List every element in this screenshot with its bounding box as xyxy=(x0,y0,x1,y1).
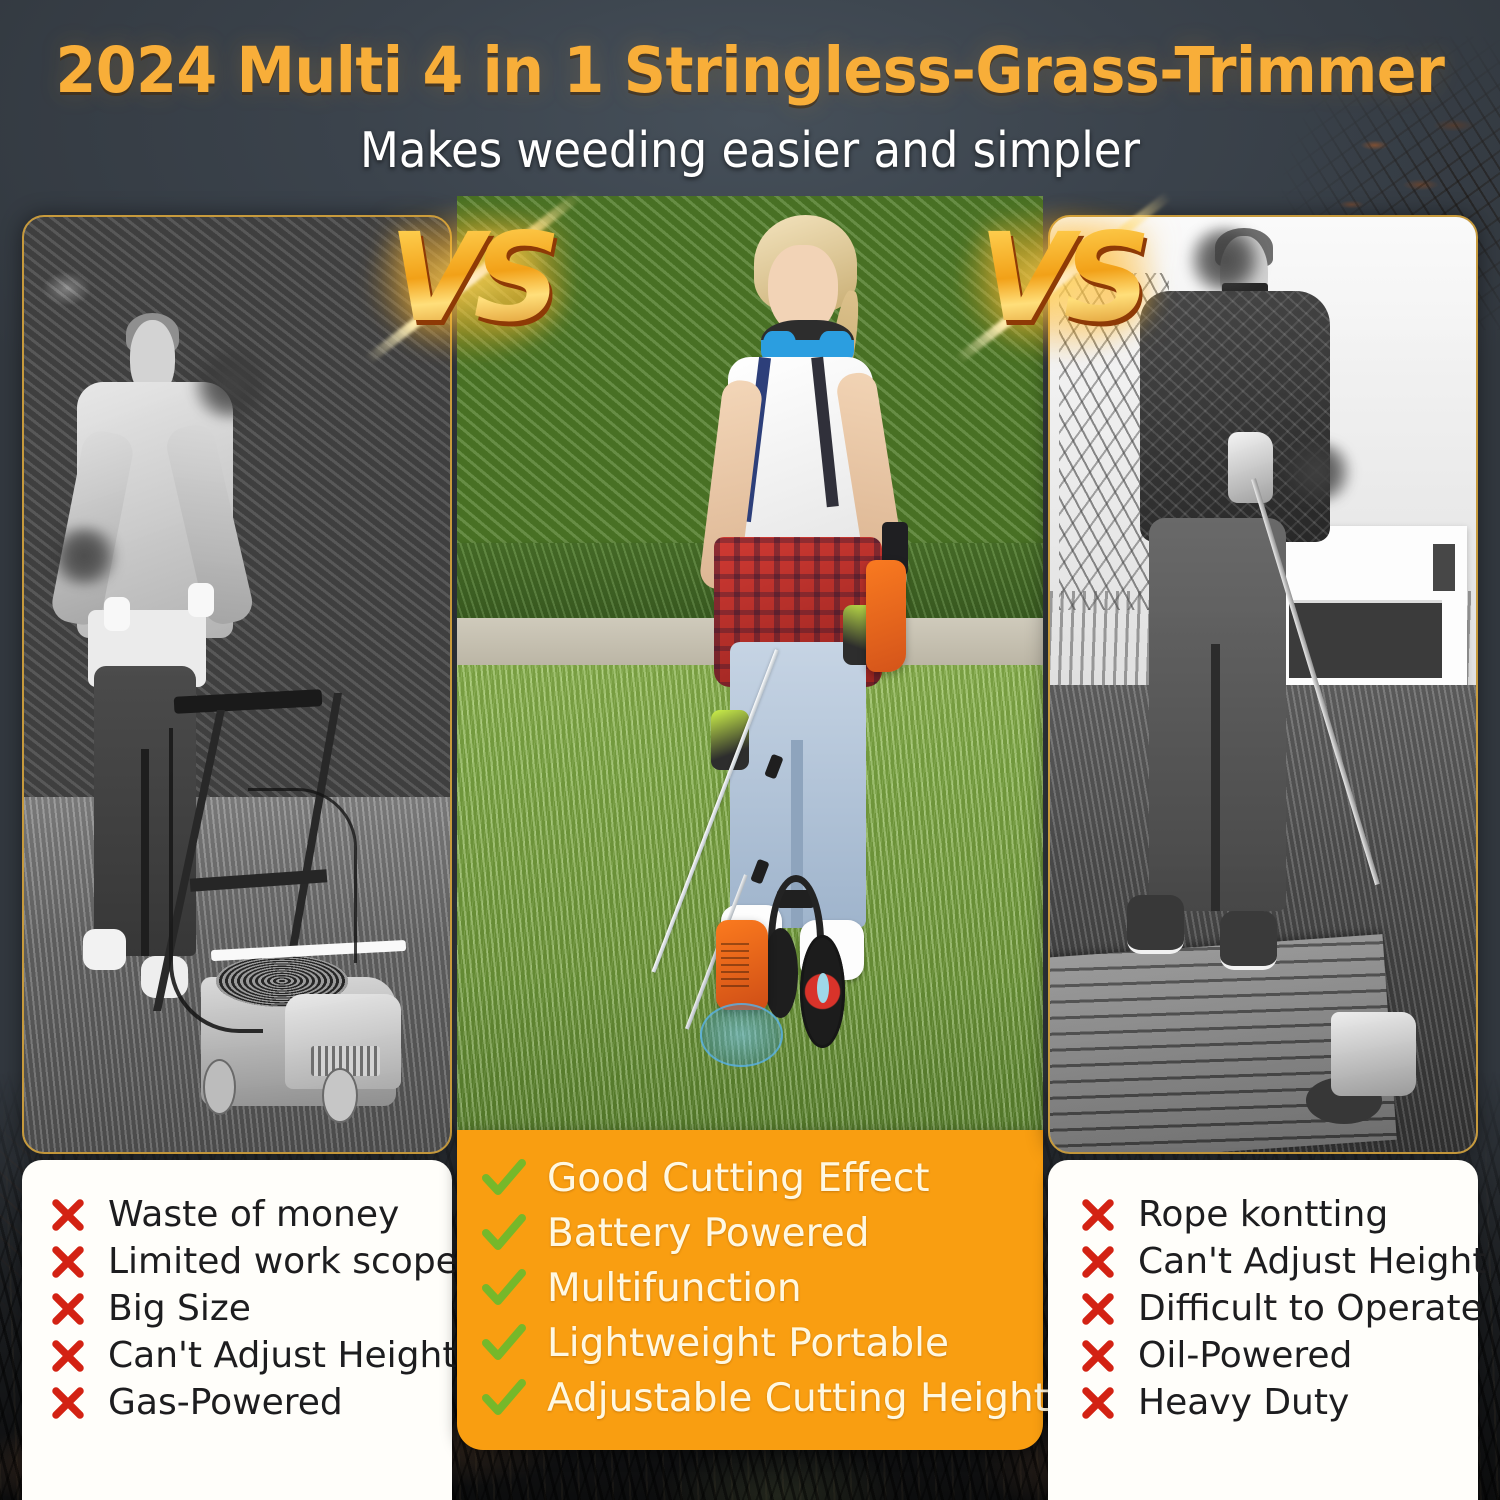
product-column-center: Good Cutting Effect Battery Powered Mult… xyxy=(457,196,1043,1450)
product-photo-center xyxy=(457,196,1043,1134)
competitor-column-right: Rope kontting Can't Adjust Height Diffic… xyxy=(1048,215,1478,1420)
check-icon xyxy=(481,1213,531,1255)
list-item-label: Big Size xyxy=(108,1288,251,1329)
list-item-label: Lightweight Portable xyxy=(547,1321,949,1366)
list-item: Heavy Duty xyxy=(1078,1382,1458,1423)
list-item-label: Heavy Duty xyxy=(1138,1382,1349,1423)
mower-wheel-rear xyxy=(322,1068,358,1124)
list-item: Big Size xyxy=(48,1288,426,1329)
pain-highlight-shoulder xyxy=(1182,226,1268,294)
list-item-label: Adjustable Cutting Height xyxy=(547,1376,1049,1421)
list-item-label: Difficult to Operate xyxy=(1138,1288,1483,1329)
woman-figure xyxy=(697,215,931,965)
list-item-label: Waste of money xyxy=(108,1194,399,1235)
garden-scene xyxy=(457,196,1043,1134)
check-icon xyxy=(481,1323,531,1365)
pain-highlight-back xyxy=(1276,441,1358,503)
wheel-inner xyxy=(763,928,798,1018)
infographic-stage: 2024 Multi 4 in 1 Stringless-Grass-Trimm… xyxy=(0,0,1500,1500)
cross-icon xyxy=(1078,1383,1122,1423)
list-item: Good Cutting Effect xyxy=(481,1156,1023,1201)
trimmer-motor xyxy=(1228,432,1272,503)
list-item: Can't Adjust Height xyxy=(48,1335,426,1376)
product-pros-list: Good Cutting Effect Battery Powered Mult… xyxy=(457,1130,1043,1450)
cross-icon xyxy=(1078,1289,1122,1329)
string-trimmer-scene xyxy=(1050,217,1476,1152)
knit-sweater xyxy=(1140,291,1331,542)
list-item-label: Rope kontting xyxy=(1138,1194,1388,1235)
check-icon xyxy=(481,1158,531,1200)
list-item-label: Can't Adjust Height xyxy=(108,1335,456,1376)
trimmer-head-chevrons xyxy=(721,943,749,988)
corded-lawn-mower xyxy=(169,685,433,1115)
mower-handlebar xyxy=(174,689,323,714)
cross-icon xyxy=(1078,1336,1122,1376)
list-item: Difficult to Operate xyxy=(1078,1288,1458,1329)
competitor-cons-list-left: Waste of money Limited work scope Big Si… xyxy=(22,1160,452,1500)
check-icon xyxy=(481,1378,531,1420)
cross-icon xyxy=(1078,1242,1122,1282)
cross-icon xyxy=(48,1289,92,1329)
list-item: Gas-Powered xyxy=(48,1382,426,1423)
trimmer-cutting-head xyxy=(1331,1012,1416,1096)
cross-icon xyxy=(1078,1195,1122,1235)
list-item-label: Gas-Powered xyxy=(108,1382,343,1423)
person-hand-left xyxy=(104,597,129,632)
list-item-label: Battery Powered xyxy=(547,1211,870,1256)
man-leg-gap xyxy=(1211,644,1220,911)
list-item: Can't Adjust Height xyxy=(1078,1241,1458,1282)
pain-highlight-shoulder xyxy=(186,348,276,420)
house-upper-window xyxy=(1433,544,1454,591)
list-item: Multifunction xyxy=(481,1266,1023,1311)
list-item: Adjustable Cutting Height xyxy=(481,1376,1023,1421)
list-item: Battery Powered xyxy=(481,1211,1023,1256)
person-leg-gap xyxy=(141,749,149,957)
cross-icon xyxy=(48,1242,92,1282)
cross-icon xyxy=(48,1195,92,1235)
list-item-label: Oil-Powered xyxy=(1138,1335,1352,1376)
list-item-label: Limited work scope xyxy=(108,1241,458,1282)
list-item-label: Good Cutting Effect xyxy=(547,1156,930,1201)
cutting-disc xyxy=(700,1003,784,1067)
power-cord-loop xyxy=(248,788,357,963)
list-item-label: Can't Adjust Height xyxy=(1138,1241,1486,1282)
person-shoe-left xyxy=(83,929,126,971)
competitor-cons-list-right: Rope kontting Can't Adjust Height Diffic… xyxy=(1048,1160,1478,1500)
list-item: Limited work scope xyxy=(48,1241,426,1282)
list-item-label: Multifunction xyxy=(547,1266,802,1311)
man-figure xyxy=(1131,236,1353,1021)
man-shoe-left xyxy=(1127,895,1185,954)
man-shoe-right xyxy=(1220,911,1278,970)
list-item: Rope kontting xyxy=(1078,1194,1458,1235)
pain-highlight-wrist xyxy=(45,526,123,586)
trimmer-motor-housing xyxy=(866,560,906,673)
competitor-photo-right xyxy=(1048,215,1478,1154)
mower-wheel-front xyxy=(203,1059,236,1115)
check-icon xyxy=(481,1268,531,1310)
cross-icon xyxy=(48,1336,92,1376)
competitor-column-left: Waste of money Limited work scope Big Si… xyxy=(22,215,452,1420)
wheel-hub-cap xyxy=(817,973,829,1003)
page-subtitle: Makes weeding easier and simpler xyxy=(60,122,1440,179)
person-hand-right xyxy=(188,583,213,618)
list-item: Oil-Powered xyxy=(1078,1335,1458,1376)
list-item: Waste of money xyxy=(48,1194,426,1235)
mower-scene xyxy=(24,217,450,1152)
list-item: Lightweight Portable xyxy=(481,1321,1023,1366)
page-title: 2024 Multi 4 in 1 Stringless-Grass-Trimm… xyxy=(53,34,1448,107)
competitor-photo-left xyxy=(22,215,452,1154)
cross-icon xyxy=(48,1383,92,1423)
